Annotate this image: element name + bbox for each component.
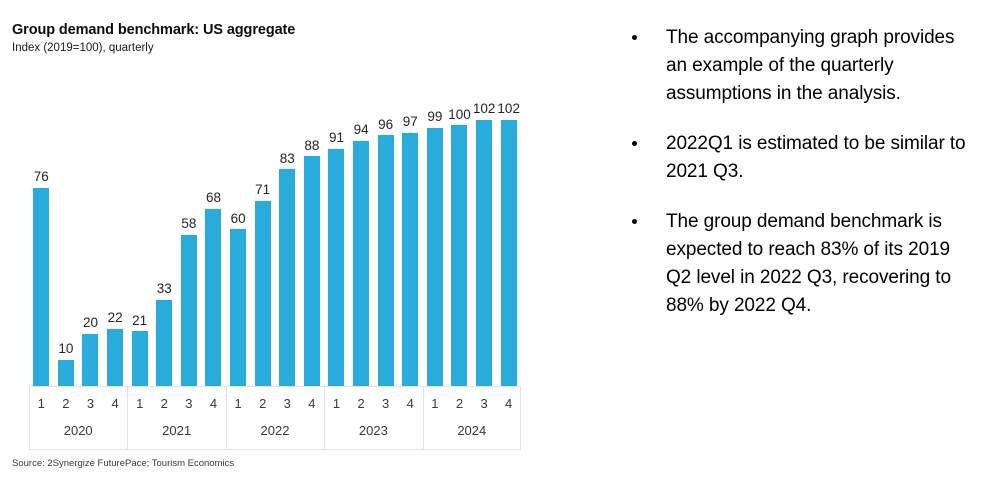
bar-value-label: 21 xyxy=(132,314,147,328)
axis-year-group: 12342024 xyxy=(423,387,521,449)
bar-value-label: 100 xyxy=(448,108,471,122)
bar[interactable] xyxy=(205,209,221,386)
bar-value-label: 97 xyxy=(403,115,418,129)
bar-slot: 83 xyxy=(275,96,300,386)
axis-quarter-label: 2 xyxy=(152,391,177,419)
axis-quarter-label: 3 xyxy=(373,391,398,419)
axis-quarter-label: 3 xyxy=(78,391,103,419)
bullet-dot-icon xyxy=(632,141,637,146)
bar-slot: 97 xyxy=(398,96,423,386)
bar-value-label: 33 xyxy=(157,282,172,296)
bar[interactable] xyxy=(82,334,98,386)
bar[interactable] xyxy=(58,360,74,386)
axis-year-label: 2023 xyxy=(324,420,422,442)
bar-slot: 71 xyxy=(250,96,275,386)
axis-year-label: 2020 xyxy=(29,420,127,442)
axis-quarter-label: 4 xyxy=(201,391,226,419)
bar-slot: 10 xyxy=(54,96,79,386)
axis-quarter-label: 1 xyxy=(127,391,152,419)
bar[interactable] xyxy=(476,120,492,386)
axis-quarter-label: 3 xyxy=(177,391,202,419)
axis-year-label: 2021 xyxy=(127,420,225,442)
bar-value-label: 88 xyxy=(304,139,319,153)
bar[interactable] xyxy=(402,133,418,386)
bar-value-label: 60 xyxy=(231,212,246,226)
chart-subtitle: Index (2019=100), quarterly xyxy=(12,42,154,54)
bar-value-label: 71 xyxy=(255,183,270,197)
axis-separator xyxy=(520,387,521,449)
bar-slot: 20 xyxy=(78,96,103,386)
bullet-list: The accompanying graph provides an examp… xyxy=(612,24,980,342)
bar-value-label: 20 xyxy=(83,316,98,330)
bar[interactable] xyxy=(501,120,517,386)
axis-quarter-label: 3 xyxy=(275,391,300,419)
bullet-item: 2022Q1 is estimated to be similar to 202… xyxy=(612,130,980,186)
axis-year-group: 12342022 xyxy=(226,387,324,449)
chart-title: Group demand benchmark: US aggregate xyxy=(12,22,295,38)
bar-slot: 22 xyxy=(103,96,128,386)
bar[interactable] xyxy=(255,201,271,386)
chart-x-axis: 1234202012342021123420221234202312342024 xyxy=(29,386,521,450)
bullet-dot-icon xyxy=(632,35,637,40)
bullet-text: The group demand benchmark is expected t… xyxy=(666,208,980,320)
axis-quarter-label: 1 xyxy=(29,391,54,419)
axis-quarter-label: 4 xyxy=(103,391,128,419)
bar-slot: 60 xyxy=(226,96,251,386)
chart-panel: Group demand benchmark: US aggregate Ind… xyxy=(0,0,560,491)
axis-quarter-label: 4 xyxy=(496,391,521,419)
bar-slot: 88 xyxy=(300,96,325,386)
axis-quarter-label: 2 xyxy=(250,391,275,419)
bar-slot: 33 xyxy=(152,96,177,386)
axis-year-group: 12342020 xyxy=(29,387,127,449)
bar-slot: 68 xyxy=(201,96,226,386)
bar-value-label: 102 xyxy=(497,102,520,116)
bullet-dot-icon xyxy=(632,219,637,224)
bar[interactable] xyxy=(279,169,295,386)
bar-value-label: 94 xyxy=(354,123,369,137)
bar-slot: 91 xyxy=(324,96,349,386)
bullet-item: The group demand benchmark is expected t… xyxy=(612,208,980,320)
bar[interactable] xyxy=(427,128,443,386)
axis-quarter-label: 3 xyxy=(472,391,497,419)
axis-quarter-row: 1234 xyxy=(423,391,521,419)
bar-value-label: 83 xyxy=(280,152,295,166)
bar-slot: 21 xyxy=(127,96,152,386)
bar[interactable] xyxy=(328,149,344,387)
axis-year-group: 12342023 xyxy=(324,387,422,449)
bar[interactable] xyxy=(353,141,369,386)
bar[interactable] xyxy=(107,329,123,386)
bar-value-label: 22 xyxy=(108,311,123,325)
axis-quarter-row: 1234 xyxy=(29,391,127,419)
bar-slot: 96 xyxy=(373,96,398,386)
axis-quarter-label: 1 xyxy=(324,391,349,419)
bar-slot: 100 xyxy=(447,96,472,386)
bar-value-label: 76 xyxy=(34,170,49,184)
bar-value-label: 10 xyxy=(58,342,73,356)
source-note: Source: 2Synergize FuturePace; Tourism E… xyxy=(12,458,234,469)
axis-quarter-label: 4 xyxy=(398,391,423,419)
bar[interactable] xyxy=(156,300,172,386)
axis-quarter-row: 1234 xyxy=(127,391,225,419)
bar-slot: 102 xyxy=(472,96,497,386)
bullet-text: The accompanying graph provides an examp… xyxy=(666,24,980,108)
bar-value-label: 99 xyxy=(427,110,442,124)
bar-slot: 58 xyxy=(177,96,202,386)
bar[interactable] xyxy=(451,125,467,386)
bar-slot: 76 xyxy=(29,96,54,386)
axis-quarter-label: 4 xyxy=(300,391,325,419)
axis-quarter-row: 1234 xyxy=(324,391,422,419)
bar-value-label: 68 xyxy=(206,191,221,205)
axis-quarter-row: 1234 xyxy=(226,391,324,419)
bar-value-label: 58 xyxy=(181,217,196,231)
axis-year-label: 2022 xyxy=(226,420,324,442)
axis-quarter-label: 1 xyxy=(226,391,251,419)
bar-chart-plot-area: 7610202221335868607183889194969799100102… xyxy=(29,96,521,386)
bullet-text: 2022Q1 is estimated to be similar to 202… xyxy=(666,130,980,186)
bar[interactable] xyxy=(33,188,49,386)
bar-slot: 102 xyxy=(496,96,521,386)
axis-quarter-label: 1 xyxy=(423,391,448,419)
bar[interactable] xyxy=(181,235,197,386)
axis-quarter-label: 2 xyxy=(447,391,472,419)
axis-quarter-label: 2 xyxy=(54,391,79,419)
bullet-item: The accompanying graph provides an examp… xyxy=(612,24,980,108)
axis-quarter-label: 2 xyxy=(349,391,374,419)
bar-slot: 94 xyxy=(349,96,374,386)
bar-value-label: 91 xyxy=(329,131,344,145)
bar-value-label: 96 xyxy=(378,118,393,132)
axis-year-label: 2024 xyxy=(423,420,521,442)
bar[interactable] xyxy=(304,156,320,386)
bar[interactable] xyxy=(132,331,148,386)
bar[interactable] xyxy=(230,229,246,386)
bar-slot: 99 xyxy=(423,96,448,386)
bar[interactable] xyxy=(378,135,394,386)
axis-year-group: 12342021 xyxy=(127,387,225,449)
bar-value-label: 102 xyxy=(473,102,496,116)
